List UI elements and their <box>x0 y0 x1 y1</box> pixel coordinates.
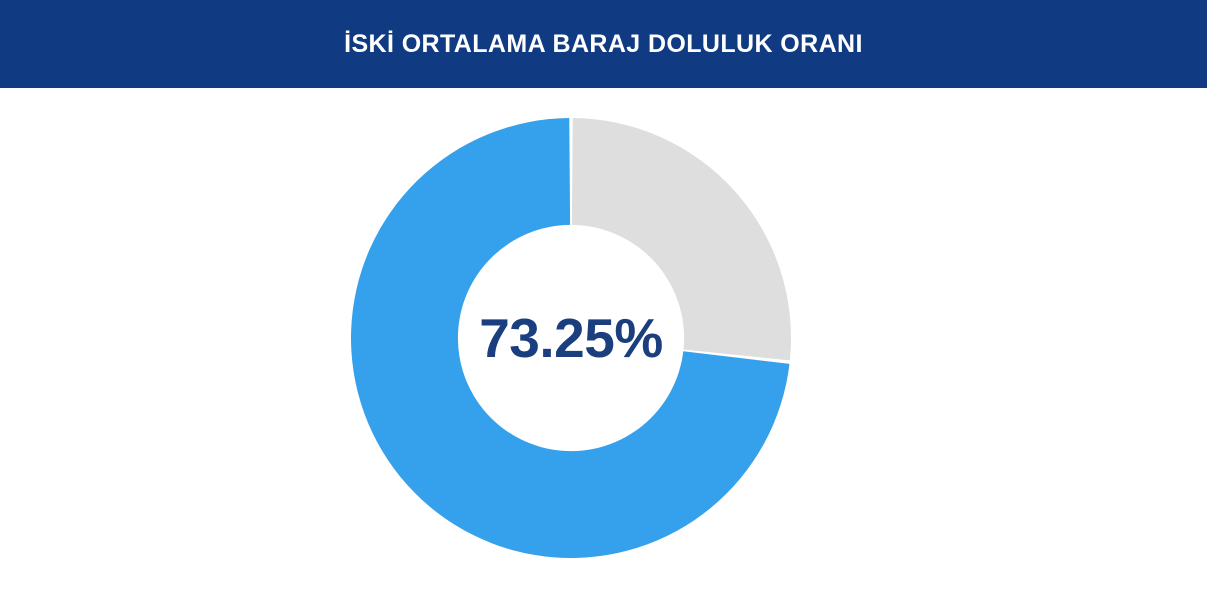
page-header: İSKİ ORTALAMA BARAJ DOLULUK ORANI <box>0 0 1207 88</box>
page-title: İSKİ ORTALAMA BARAJ DOLULUK ORANI <box>344 32 863 57</box>
donut-slices <box>351 118 791 558</box>
page-root: İSKİ ORTALAMA BARAJ DOLULUK ORANI 73.25% <box>0 0 1207 616</box>
chart-container: 73.25% <box>0 88 1207 616</box>
donut-chart: 73.25% <box>351 118 791 558</box>
donut-chart-svg <box>351 118 791 558</box>
donut-slice-empty[interactable] <box>572 118 791 360</box>
